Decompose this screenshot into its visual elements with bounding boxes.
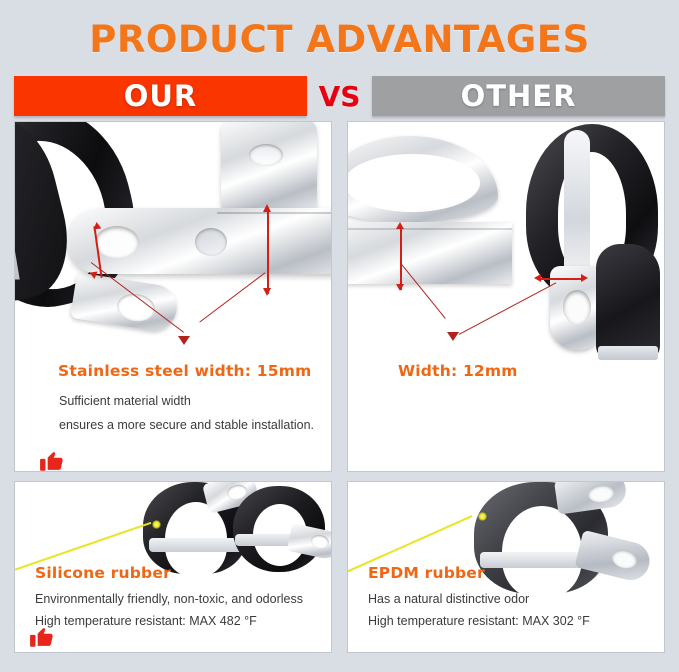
rivet — [195, 228, 227, 256]
thumbs-up-icon — [29, 624, 55, 650]
leader-arrowhead — [447, 332, 459, 341]
dimension-arrow-horizontal — [540, 278, 584, 280]
panel-silicone-rubber: Silicone rubber Environmentally friendly… — [14, 481, 332, 653]
comparison-banner-row: OUR VS OTHER — [14, 76, 665, 116]
headline-other-width: Width: 12mm — [398, 362, 518, 380]
body-our-width-2: ensures a more secure and stable install… — [59, 418, 314, 432]
steel-band — [149, 538, 243, 552]
headline-epdm: EPDM rubber — [368, 564, 485, 582]
pointer-highlight — [152, 520, 161, 529]
panel-our-width: 304 — [14, 121, 332, 472]
body-epdm-2: High temperature resistant: MAX 302 °F — [368, 614, 590, 628]
dimension-arrow-large — [267, 208, 269, 294]
mounting-hole — [563, 290, 591, 324]
body-silicone-1: Environmentally friendly, non-toxic, and… — [35, 592, 303, 606]
panel-epdm-rubber: EPDM rubber Has a natural distinctive od… — [347, 481, 665, 653]
banner-vs: VS — [307, 76, 372, 116]
panel-other-width: Width: 12mm — [347, 121, 665, 472]
thumbs-up-icon — [39, 448, 65, 472]
headline-silicone: Silicone rubber — [35, 564, 171, 582]
body-epdm-1: Has a natural distinctive odor — [368, 592, 529, 606]
infographic-root: PRODUCT ADVANTAGES OUR VS OTHER 304 — [0, 0, 679, 672]
banner-our: OUR — [14, 76, 307, 116]
pointer-highlight — [478, 512, 487, 521]
leader-arrowhead — [178, 336, 190, 345]
body-silicone-2: High temperature resistant: MAX 482 °F — [35, 614, 257, 628]
magnified-mounting-hole — [95, 226, 139, 258]
dimension-arrow-vertical — [400, 226, 402, 290]
photo-competitor-clamp — [348, 122, 664, 471]
body-our-width-1: Sufficient material width — [59, 394, 191, 408]
page-title: PRODUCT ADVANTAGES — [0, 18, 679, 61]
banner-other: OTHER — [372, 76, 665, 116]
steel-band-stripe — [564, 130, 590, 280]
headline-our-width: Stainless steel width: 15mm — [58, 362, 311, 380]
